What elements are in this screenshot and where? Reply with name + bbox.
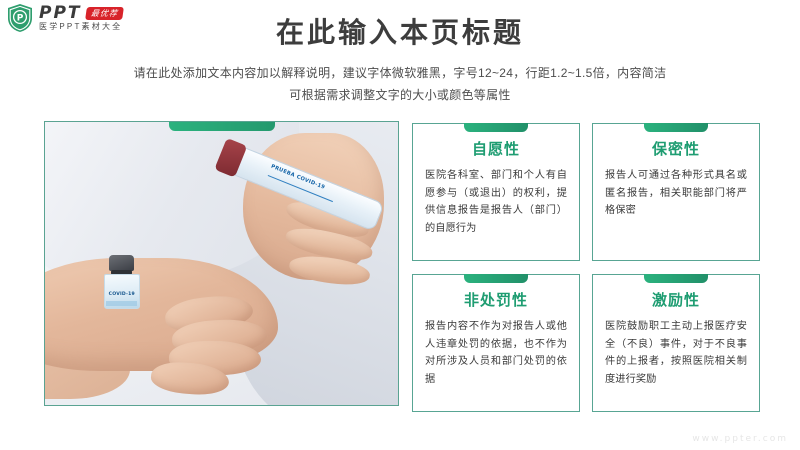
info-card-voluntary[interactable]: 自愿性 医院各科室、部门和个人有自愿参与（或退出）的权利，提供信息报告是报告人（… <box>412 123 580 261</box>
subtitle-line-1: 请在此处添加文本内容加以解释说明，建议字体微软雅黑，字号12~24，行距1.2~… <box>0 62 800 84</box>
card-body: 医院各科室、部门和个人有自愿参与（或退出）的权利，提供信息报告是报告人（部门）的… <box>425 167 567 237</box>
vial-label: COVID-19 <box>105 292 139 297</box>
covid-vaccine-vial: COVID-19 <box>103 255 140 309</box>
page-subtitle: 请在此处添加文本内容加以解释说明，建议字体微软雅黑，字号12~24，行距1.2~… <box>0 62 800 106</box>
vial-body: COVID-19 <box>104 274 140 308</box>
card-accent-tab <box>644 123 708 132</box>
card-accent-tab <box>464 123 528 132</box>
vial-cap <box>109 255 134 271</box>
card-title: 保密性 <box>593 141 759 159</box>
card-title: 激励性 <box>593 292 759 310</box>
info-card-incentive[interactable]: 激励性 医院鼓励职工主动上报医疗安全（不良）事件，对于不良事件的上报者，按照医院… <box>592 274 760 412</box>
photo-image: PRUEBA COVID-19 COVID-19 <box>45 122 398 405</box>
card-body: 报告人可通过各种形式具名或匿名报告，相关职能部门将严格保密 <box>605 167 747 220</box>
card-body: 报告内容不作为对报告人或他人违章处罚的依据，也不作为对所涉及人员和部门处罚的依据 <box>425 318 567 388</box>
page-title: 在此输入本页标题 <box>0 16 800 50</box>
photo-panel: PRUEBA COVID-19 COVID-19 <box>44 121 399 406</box>
site-watermark: www.ppter.com <box>692 434 788 444</box>
info-card-non-punitive[interactable]: 非处罚性 报告内容不作为对报告人或他人违章处罚的依据，也不作为对所涉及人员和部门… <box>412 274 580 412</box>
card-title: 自愿性 <box>413 141 579 159</box>
subtitle-line-2: 可根据需求调整文字的大小或颜色等属性 <box>0 84 800 106</box>
card-accent-tab <box>644 274 708 283</box>
vial-band <box>106 301 137 306</box>
card-accent-tab <box>464 274 528 283</box>
card-body: 医院鼓励职工主动上报医疗安全（不良）事件，对于不良事件的上报者，按照医院相关制度… <box>605 318 747 388</box>
card-title: 非处罚性 <box>413 292 579 310</box>
info-card-confidential[interactable]: 保密性 报告人可通过各种形式具名或匿名报告，相关职能部门将严格保密 <box>592 123 760 261</box>
photo-accent-tab <box>169 122 275 131</box>
